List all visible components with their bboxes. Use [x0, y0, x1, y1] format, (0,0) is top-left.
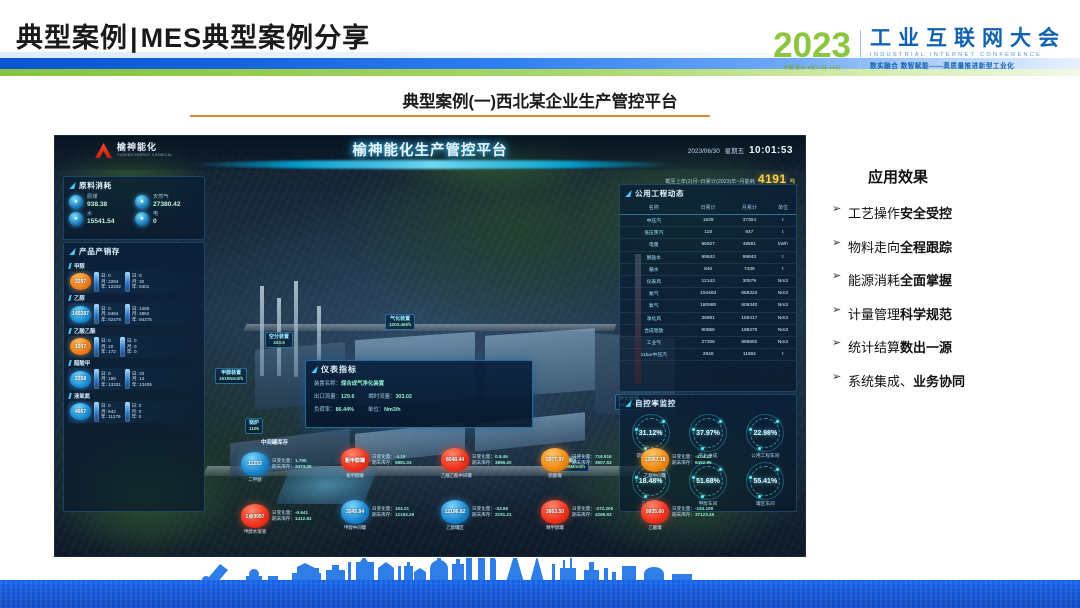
product-group-label: 醋酸甲 [74, 359, 90, 367]
skyline-silhouette-icon [0, 558, 1080, 582]
tank-card-caption: 甲醇水溶液 [241, 529, 269, 535]
group-marker-icon [68, 393, 71, 399]
effect-bullet-icon: ➢ [832, 371, 848, 384]
gauge-label: 罐区车间 [756, 501, 775, 507]
product-group-label: 液氧氮 [74, 392, 90, 400]
raw-item-3: ●水15541.54 [69, 212, 133, 226]
tooltip-row-2: 出口流量：129.6瞬时流量：303.02 [314, 392, 524, 400]
tank-cards-title: 中间罐库存 [261, 438, 288, 446]
tank-orb-icon: 11253 [241, 452, 269, 476]
conference-logo: 2023 中国·苏州 8月14日-16日 工业互联网大会 INDUSTRIAL … [773, 24, 1066, 74]
effect-item-label: 能源消耗全面掌握 [848, 270, 952, 289]
tank-inventory-cards: 中间罐库存 11253二甲醚日变化量：1.790期末库存：3474.051点99… [205, 442, 705, 554]
utility-cell: Nm3 [770, 275, 796, 287]
utility-cell: 净化风 [620, 312, 688, 324]
effect-bullet-icon: ➢ [832, 237, 848, 250]
scene-label-5[interactable]: 锅炉1105 [245, 418, 263, 434]
effects-rows: ➢工艺操作安全受控➢物料走向全程跟踪➢能源消耗全面掌握➢计量管理科学规范➢统计结… [832, 203, 1072, 390]
utility-cell: 647 [729, 227, 770, 239]
utility-cell: 低压蒸汽 [620, 227, 688, 239]
tooltip-title: 仪表指标 [321, 364, 357, 375]
utility-cell: 7439 [729, 263, 770, 275]
scene-label-value: 1105 [249, 426, 259, 432]
raw-item-1: ●原煤938.38 [69, 195, 133, 209]
tank-metric-stock: 期末库存：6452.95 [672, 460, 712, 466]
tank-card-2[interactable]: 1点9997甲醇水溶液日变化量：-6.641期末库存：1412.81 [241, 504, 312, 528]
table-row: 11bar中压汽294611584t [620, 349, 796, 361]
coal-icon: ● [69, 195, 83, 209]
tank-card-10[interactable]: 9935.60乙酸罐日变化量：-193.109期末库存：37123.45 [641, 500, 714, 524]
tank-metric-stock: 期末库存：3474.05 [272, 464, 312, 470]
dashboard-clock: 2023/06/30 星期五 10:01:53 [688, 145, 793, 156]
utility-cell: 12143 [688, 275, 729, 287]
panel-auto-title: 自控率监控 [635, 398, 676, 409]
product-metrics-left: 日: 0月: 2264年: 12232 [94, 272, 121, 292]
tank-metric-stock: 期末库存：12194.26 [372, 512, 414, 518]
group-marker-icon [68, 328, 71, 334]
effect-bullet-icon: ➢ [832, 337, 848, 350]
product-group-label: 乙醇 [74, 294, 85, 302]
effect-item-4: ➢计量管理科学规范 [832, 304, 1072, 323]
tank-card-caption: 二甲醚 [241, 477, 269, 483]
effect-item-1: ➢工艺操作安全受控 [832, 203, 1072, 222]
gauge-value: 37.97% [696, 430, 720, 437]
product-group-4: 醋酸甲 [69, 359, 200, 367]
logo-year-subtitle: 中国·苏州 8月14日-16日 [783, 66, 840, 71]
utility-cell: Nm3 [770, 288, 796, 300]
product-group-label: 乙酸乙酯 [74, 327, 96, 335]
scene-label-value: 343.6 [269, 340, 289, 346]
product-metric: 年: 12232 [101, 284, 121, 289]
tank-card-caption: 乙酸罐 [641, 525, 669, 531]
utility-cell: 99843 [729, 251, 770, 263]
gas-icon: ● [135, 195, 149, 209]
product-metric: 年: 6401 [132, 284, 149, 289]
product-orb: 140287 [70, 306, 91, 323]
product-metrics-right: 日: 1486月: 4862年: 84375 [125, 304, 152, 324]
utility-cell: 中压汽 [620, 215, 688, 227]
tank-metric-stock: 期末库存：37123.45 [672, 512, 714, 518]
product-metrics-right: 日: 9月: 32年: 6401 [125, 272, 149, 292]
utility-cell: 180980 [688, 300, 729, 312]
gauge-dot-icon [758, 495, 761, 498]
table-row: 仪表风1214330579Nm3 [620, 275, 796, 287]
tank-card-7[interactable]: 3545.84甲醇中间罐日变化量：104.21期末库存：12194.26 [341, 500, 414, 524]
logo-title-en: INDUSTRIAL INTERNET CONFERENCE [870, 52, 1066, 58]
utility-cell: kWh [770, 239, 796, 251]
product-metrics-left: 日: 0月: 8464年: 82478 [94, 304, 121, 324]
utility-cell: 工业气 [620, 336, 688, 348]
gauge-dot-icon [749, 428, 752, 431]
panel-product-title: 产品产销存 [79, 246, 120, 257]
scene-label-value: 1619Nm3/h [219, 376, 243, 382]
dashboard-brand: 榆神能化 YUSHEN ENERGY CHEMICAL [95, 143, 172, 158]
tank-metric-stock: 期末库存：3896.20 [472, 460, 512, 466]
tank-orb-icon: 3545.84 [341, 500, 369, 524]
brand-name-en: YUSHEN ENERGY CHEMICAL [117, 154, 172, 157]
product-group-5: 液氧氮 [69, 392, 200, 400]
utility-cell: 氮气 [620, 288, 688, 300]
utility-col-header: 单位 [770, 202, 796, 215]
utility-col-header: 日累计 [688, 202, 729, 215]
tank-card-caption: 精甲醇罐 [541, 525, 569, 531]
tooltip-row-3: 负荷率：86.44%单位：Nm3/h [314, 405, 524, 413]
effect-item-6: ➢系统集成、业务协同 [832, 371, 1072, 390]
plant-tower-1 [260, 286, 264, 376]
effect-item-2: ➢物料走向全程跟踪 [832, 237, 1072, 256]
effect-bullet-icon: ➢ [832, 270, 848, 283]
product-orb: 4667 [70, 403, 91, 420]
tank-card-1[interactable]: 11253二甲醚日变化量：1.790期末库存：3474.05 [241, 452, 312, 476]
gauge-tube-icon [125, 304, 130, 324]
utility-table-body: 中压汽163937304t低压蒸汽118647t电量9692748681kWh脱… [620, 215, 796, 361]
product-row[interactable]: 140287日: 0月: 8464年: 82478日: 1486月: 4862年… [68, 303, 200, 325]
product-metrics-right: 日: 33月: 13年: 13405 [125, 369, 152, 389]
tank-card-4[interactable]: 8048.44乙酸乙酯中间罐日变化量：0.9.46期末库存：3896.20 [441, 448, 512, 472]
table-row: 循水8407439t [620, 263, 796, 275]
utility-cell: 35891 [688, 312, 729, 324]
gauge-3: 22.98%公用工程车间 [737, 414, 794, 459]
logo-tagline: 数实融合 数智赋能——高质量推进新型工业化 [870, 60, 1066, 70]
tooltip-field: 装置名称：煤合成气净化装置 [314, 379, 384, 387]
utility-cell: 888692 [729, 336, 770, 348]
panel-product-header: 产品产销存 [64, 243, 204, 259]
tank-orb-icon: 粗甲醇罐 [341, 448, 369, 472]
utility-col-header: 月累计 [729, 202, 770, 215]
panel-utility-dynamics: 公用工程动态 名称日累计月累计单位 中压汽163937304t低压蒸汽11864… [619, 184, 797, 392]
utility-cell: 11bar中压汽 [620, 349, 688, 361]
table-row: 低压蒸汽118647t [620, 227, 796, 239]
section-title: 典型案例(一)西北某企业生产管控平台 [0, 88, 1080, 112]
utility-cell: 609340 [729, 300, 770, 312]
device-tooltip-popup: 仪表指标 装置名称：煤合成气净化装置出口流量：129.6瞬时流量：303.02负… [305, 360, 533, 428]
tank-metric-stock: 期末库存：3507.53 [572, 460, 612, 466]
table-row: 合成弛放60956198275Nm3 [620, 324, 796, 336]
utility-cell: 1639 [688, 215, 729, 227]
gauge-6: 55.41%罐区车间 [737, 462, 794, 507]
page-title-separator: | [128, 23, 141, 53]
product-inventory-list: 甲醇3297日: 0月: 2264年: 12232日: 9月: 32年: 640… [64, 259, 204, 425]
table-row: 氧气180980609340Nm3 [620, 300, 796, 312]
effect-item-label: 计量管理科学规范 [848, 304, 952, 323]
tank-orb-icon: 9935.60 [641, 500, 669, 524]
page-title: 典型案例|MES典型案例分享 [16, 16, 370, 55]
table-row: 脱盐水9964399843t [620, 251, 796, 263]
tank-metric-stock: 期末库存：5881.03 [372, 460, 412, 466]
tank-card-6[interactable]: 12067.18乙醇中间罐日变化量：-43.4.17期末库存：6452.95 [641, 448, 712, 472]
gauge-value: 31.12% [639, 430, 663, 437]
clock-weekday: 星期五 [725, 146, 744, 155]
tank-metric-stock: 期末库存：2191.21 [472, 512, 512, 518]
product-metric: 年: 0 [132, 414, 142, 419]
utility-cell: 30579 [729, 275, 770, 287]
utility-cell: 合成弛放 [620, 324, 688, 336]
gauge-dot-icon [749, 476, 752, 479]
panel-marker-icon [69, 248, 75, 255]
panel-product-inventory: 产品产销存 甲醇3297日: 0月: 2264年: 12232日: 9月: 32… [63, 242, 205, 512]
gauge-label: 公用工程车间 [751, 453, 779, 459]
effect-item-label: 系统集成、业务协同 [848, 371, 965, 390]
raw-item-value: 27380.42 [153, 201, 181, 208]
utility-cell: 668324 [729, 288, 770, 300]
gauge-ring-icon: 55.41% [746, 462, 784, 500]
tank-metric-stock: 期末库存：1412.81 [272, 516, 312, 522]
panel-utility-title: 公用工程动态 [635, 188, 684, 199]
tank-card-caption: 甲醇中间罐 [341, 525, 369, 531]
utility-cell: 48681 [729, 239, 770, 251]
utility-cell: 159417 [729, 312, 770, 324]
tank-orb-icon: 12067.18 [641, 448, 669, 472]
tank-card-5[interactable]: 5977.97醋酸罐日变化量：716.516期末库存：3507.53 [541, 448, 612, 472]
gauge-tube-icon [94, 369, 99, 389]
effect-item-label: 物料走向全程跟踪 [848, 237, 952, 256]
table-row: 电量9692748681kWh [620, 239, 796, 251]
application-effects-list: 应用效果 ➢工艺操作安全受控➢物料走向全程跟踪➢能源消耗全面掌握➢计量管理科学规… [832, 166, 1072, 404]
group-marker-icon [68, 263, 71, 269]
gauge-tube-icon [94, 337, 99, 357]
group-marker-icon [68, 360, 71, 366]
product-metric: 年: 13331 [101, 382, 121, 387]
tooltip-field: 瞬时流量：303.02 [368, 392, 411, 400]
tooltip-row-1: 装置名称：煤合成气净化装置 [314, 379, 524, 387]
hero-swoosh [187, 160, 677, 169]
utility-cell: 27306 [688, 336, 729, 348]
utility-cell: t [770, 227, 796, 239]
panel-utility-header: 公用工程动态 [620, 185, 796, 201]
tooltip-field: 负荷率：86.44% [314, 405, 354, 413]
utility-table-header-row: 名称日累计月累计单位 [620, 202, 796, 215]
product-metric: 年: 13405 [132, 382, 152, 387]
utility-cell: 99643 [688, 251, 729, 263]
gauge-tube-icon [125, 272, 130, 292]
panel-raw-title: 原料消耗 [79, 180, 112, 191]
gauge-dot-icon [719, 468, 722, 471]
tank-orb-icon: 8048.44 [441, 448, 469, 472]
logo-divider [860, 30, 861, 68]
effect-item-3: ➢能源消耗全面掌握 [832, 270, 1072, 289]
utility-cell: 氧气 [620, 300, 688, 312]
group-marker-icon [68, 295, 71, 301]
utility-cell: 37304 [729, 215, 770, 227]
section-underline [190, 115, 710, 117]
utility-cell: 脱盐水 [620, 251, 688, 263]
utility-cell: t [770, 263, 796, 275]
utility-col-header: 名称 [620, 202, 688, 215]
gauge-dot-icon [776, 420, 779, 423]
gauge-dot-icon [635, 428, 638, 431]
clock-date: 2023/06/30 [688, 148, 720, 155]
tooltip-field: 单位：Nm3/h [368, 405, 401, 413]
gauge-value: 18.48% [639, 478, 663, 485]
effect-item-label: 工艺操作安全受控 [848, 203, 952, 222]
utility-cell: t [770, 251, 796, 263]
product-metric: 年: 0 [127, 349, 137, 354]
gauge-dot-icon [758, 447, 761, 450]
panel-marker-icon [69, 182, 75, 189]
product-metrics-left: 日: 0月: 842年: 11276 [94, 402, 121, 422]
scene-label-value: 1203.46t/h [389, 322, 411, 328]
panel-raw-header: 原料消耗 [64, 177, 204, 193]
utility-cell: 60956 [688, 324, 729, 336]
gauge-value: 51.68% [696, 478, 720, 485]
effect-item-label: 统计结算数出一源 [848, 337, 952, 356]
product-metrics-left: 日: 0月: 168年: 13331 [94, 369, 121, 389]
scene-label-1[interactable]: 气化装置1203.46t/h [385, 314, 415, 330]
tank-card-8[interactable]: 12196.82乙醇罐区日变化量：-33.66期末库存：2191.21 [441, 500, 512, 524]
brand-text: 榆神能化 YUSHEN ENERGY CHEMICAL [117, 143, 172, 157]
gauge-dot-icon [662, 420, 665, 423]
tank-card-caption: 粗甲醇罐 [341, 473, 369, 479]
plant-tower-3 [294, 281, 298, 377]
utility-cell: t [770, 349, 796, 361]
utility-cell: 2946 [688, 349, 729, 361]
tooltip-body: 装置名称：煤合成气净化装置出口流量：129.6瞬时流量：303.02负荷率：86… [306, 376, 532, 421]
raw-item-2: ●天然气27380.42 [135, 195, 199, 209]
gauge-tube-icon [94, 402, 99, 422]
gauge-dot-icon [719, 420, 722, 423]
utility-cell: Nm3 [770, 312, 796, 324]
raw-item-value: 15541.54 [87, 218, 115, 225]
logo-year-block: 2023 中国·苏州 8月14日-16日 [773, 28, 851, 71]
gauge-tube-icon [125, 402, 130, 422]
utility-cell: 96927 [688, 239, 729, 251]
utility-cell: 11584 [729, 349, 770, 361]
product-metrics-left: 日: 0月: 20年: 172 [94, 337, 116, 357]
utility-cell: 198275 [729, 324, 770, 336]
gauge-ring-icon: 22.98% [746, 414, 784, 452]
gauge-tube-icon [125, 369, 130, 389]
product-metrics-right: 日: 0月: 0年: 0 [120, 337, 137, 357]
utility-cell: Nm3 [770, 300, 796, 312]
tooltip-marker-icon [311, 366, 317, 373]
product-metric: 年: 82478 [101, 317, 121, 322]
tank-card-3[interactable]: 粗甲醇罐粗甲醇罐日变化量：-4.19期末库存：5881.03 [341, 448, 412, 472]
tank-orb-icon: 1点9997 [241, 504, 269, 528]
utility-cell: 118 [688, 227, 729, 239]
logo-text-block: 工业互联网大会 INDUSTRIAL INTERNET CONFERENCE 数… [870, 28, 1066, 70]
panel-auto-header: 自控率监控 [620, 395, 796, 411]
raw-item-4: ●电0 [135, 212, 199, 226]
power-icon: ● [135, 212, 149, 226]
product-group-3: 乙酸乙酯 [69, 327, 200, 335]
gauge-dot-icon [776, 468, 779, 471]
scene-label-3[interactable]: 甲醇装置1619Nm3/h [215, 368, 247, 384]
tooltip-header: 仪表指标 [306, 361, 532, 376]
brand-logo-icon [95, 143, 112, 158]
tank-orb-icon: 5977.97 [541, 448, 569, 472]
panel-raw-consumption: 原料消耗 ●原煤938.38●天然气27380.42●水15541.54●电0 [63, 176, 205, 240]
panel-marker-icon [625, 190, 631, 197]
gauge-value: 55.41% [753, 478, 777, 485]
utility-cell: Nm3 [770, 324, 796, 336]
raw-item-value: 938.38 [87, 201, 107, 208]
utility-table: 名称日累计月累计单位 中压汽163937304t低压蒸汽118647t电量969… [620, 202, 796, 361]
table-row: 净化风35891159417Nm3 [620, 312, 796, 324]
clock-time: 10:01:53 [749, 145, 793, 156]
table-row: 工业气27306888692Nm3 [620, 336, 796, 348]
tank-card-caption: 乙醇罐区 [441, 525, 469, 531]
tank-card-9[interactable]: 3863.50精甲醇罐日变化量：-272.200期末库存：4269.93 [541, 500, 613, 524]
utility-cell: Nm3 [770, 336, 796, 348]
tank-orb-icon: 3863.50 [541, 500, 569, 524]
brand-name-cn: 榆神能化 [117, 143, 172, 152]
gauge-tube-icon [94, 272, 99, 292]
logo-year: 2023 [773, 28, 851, 63]
tank-metric-stock: 期末库存：4269.93 [572, 512, 613, 518]
effect-bullet-icon: ➢ [832, 203, 848, 216]
table-row: 氮气194463668324Nm3 [620, 288, 796, 300]
effect-item-5: ➢统计结算数出一源 [832, 337, 1072, 356]
tank-orb-icon: 12196.82 [441, 500, 469, 524]
water-icon: ● [69, 212, 83, 226]
gauge-dot-icon [692, 428, 695, 431]
product-metric: 年: 11276 [101, 414, 121, 419]
tooltip-field: 出口流量：129.6 [314, 392, 354, 400]
product-row[interactable]: 3297日: 0月: 2264年: 12232日: 9月: 32年: 6401 [68, 271, 200, 293]
product-metric: 年: 172 [101, 349, 116, 354]
utility-cell: 194463 [688, 288, 729, 300]
gauge-tube-icon [120, 337, 125, 357]
tank-card-caption: 醋酸罐 [541, 473, 569, 479]
page-title-main: 典型案例 [16, 23, 128, 53]
product-orb: 2258 [70, 371, 91, 388]
effects-title: 应用效果 [868, 166, 1072, 187]
page-title-sub: MES典型案例分享 [141, 23, 371, 53]
product-group-2: 乙醇 [69, 294, 200, 302]
utility-cell: 840 [688, 263, 729, 275]
product-row[interactable]: 2258日: 0月: 168年: 13331日: 33月: 13年: 13405 [68, 368, 200, 390]
panel-marker-icon [625, 400, 631, 407]
utility-cell: 电量 [620, 239, 688, 251]
raw-consumption-grid: ●原煤938.38●天然气27380.42●水15541.54●电0 [64, 193, 204, 228]
product-orb: 1007 [70, 338, 91, 355]
dashboard-screenshot: 榆神能化生产管控平台 榆神能化 YUSHEN ENERGY CHEMICAL 2… [55, 136, 805, 556]
logo-title-cn: 工业互联网大会 [870, 28, 1066, 50]
footer-skyline [0, 558, 1080, 608]
product-row[interactable]: 1007日: 0月: 20年: 172日: 0月: 0年: 0 [68, 336, 200, 358]
product-group-1: 甲醇 [69, 262, 200, 270]
raw-item-value: 0 [153, 218, 158, 225]
utility-cell: t [770, 215, 796, 227]
product-group-label: 甲醇 [74, 262, 85, 270]
gauge-value: 22.98% [753, 430, 777, 437]
effect-bullet-icon: ➢ [832, 304, 848, 317]
table-row: 中压汽163937304t [620, 215, 796, 227]
product-row[interactable]: 4667日: 0月: 842年: 11276日: 0月: 0年: 0 [68, 401, 200, 423]
tank-card-caption: 乙酸乙酯中间罐 [441, 473, 469, 479]
utility-cell: 循水 [620, 263, 688, 275]
product-metric: 年: 84375 [132, 317, 152, 322]
product-metrics-right: 日: 0月: 0年: 0 [125, 402, 142, 422]
product-orb: 3297 [70, 273, 91, 290]
gauge-tube-icon [94, 304, 99, 324]
skyline-water [0, 580, 1080, 608]
utility-cell: 仪表风 [620, 275, 688, 287]
scene-label-2[interactable]: 空分装置343.6 [265, 332, 293, 348]
